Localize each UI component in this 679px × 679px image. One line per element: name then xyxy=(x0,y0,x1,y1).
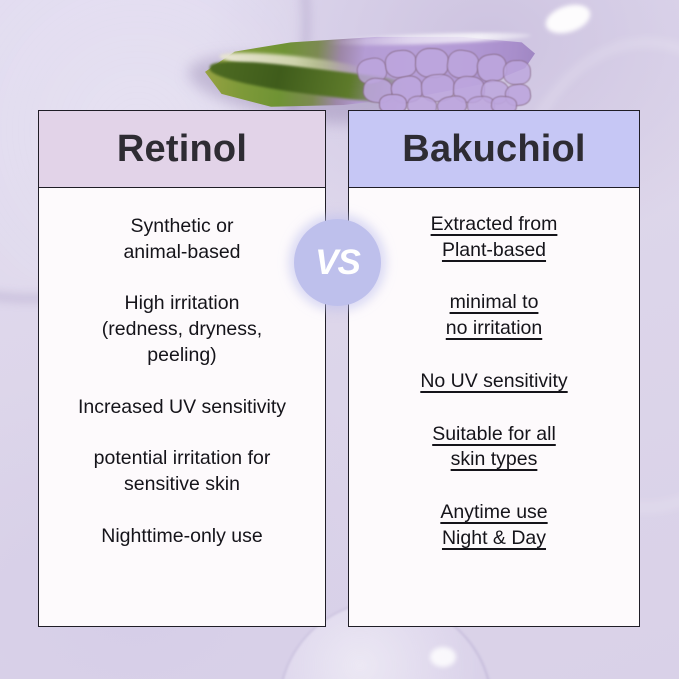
card-header-bakuchiol: Bakuchiol xyxy=(349,111,639,188)
feature-item: Suitable for all skin types xyxy=(432,422,556,473)
feature-item: potential irritation for sensitive skin xyxy=(94,446,271,497)
card-title-bakuchiol: Bakuchiol xyxy=(402,130,585,168)
feature-item: Anytime use Night & Day xyxy=(440,500,547,551)
feature-item: No UV sensitivity xyxy=(420,369,567,395)
card-body-retinol: Synthetic or animal-based High irritatio… xyxy=(39,188,325,626)
feature-item: Synthetic or animal-based xyxy=(123,214,240,265)
card-body-bakuchiol: Extracted from Plant-based minimal to no… xyxy=(349,188,639,626)
comparison-card-bakuchiol: Bakuchiol Extracted from Plant-based min… xyxy=(348,110,640,627)
card-header-retinol: Retinol xyxy=(39,111,325,188)
feature-item: High irritation (redness, dryness, peeli… xyxy=(102,291,262,368)
feature-item: minimal to no irritation xyxy=(446,290,542,341)
feature-item: Increased UV sensitivity xyxy=(78,395,286,421)
infographic-canvas: Retinol Synthetic or animal-based High i… xyxy=(0,0,679,679)
vs-badge-label: VS xyxy=(315,245,360,280)
card-title-retinol: Retinol xyxy=(117,130,247,168)
bubble-highlight-decoration xyxy=(430,647,456,667)
feature-item: Extracted from Plant-based xyxy=(431,212,558,263)
comparison-card-retinol: Retinol Synthetic or animal-based High i… xyxy=(38,110,326,627)
feature-item: Nighttime-only use xyxy=(101,524,262,550)
vs-badge: VS xyxy=(294,219,381,306)
